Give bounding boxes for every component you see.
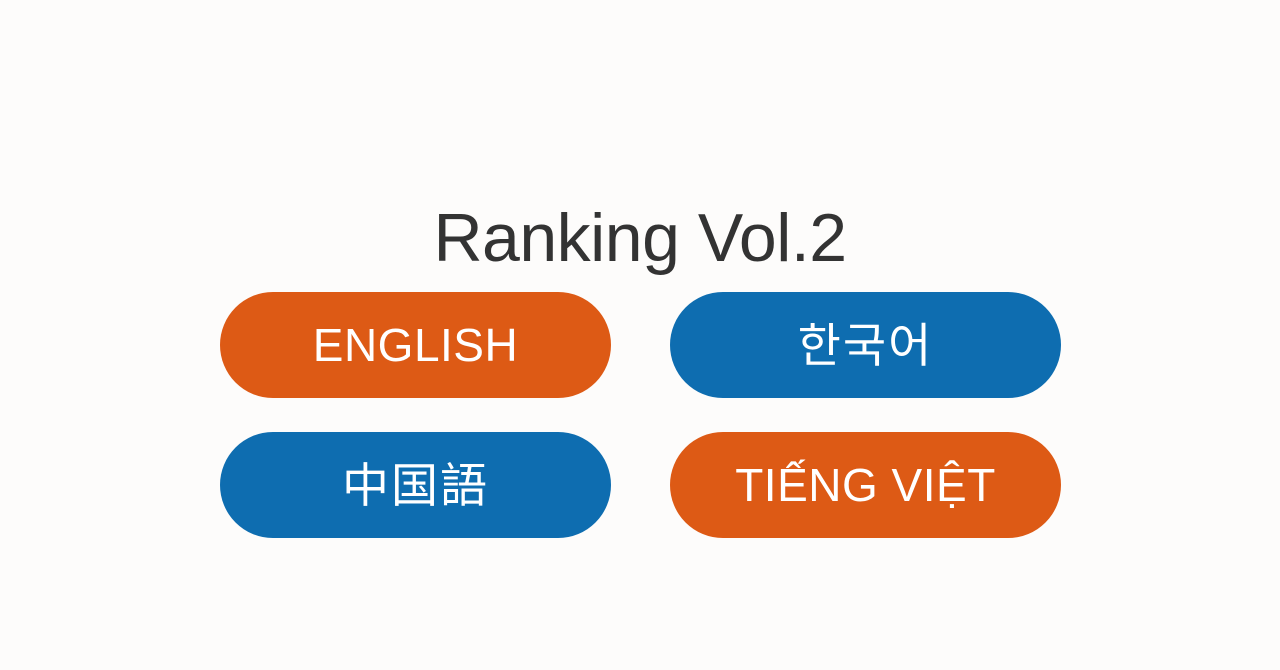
page-title: Ranking Vol.2 <box>0 196 1280 280</box>
language-button-english-label: ENGLISH <box>313 322 518 368</box>
language-button-chinese-label: 中国語 <box>342 462 489 509</box>
language-button-vietnamese-label: TIẾNG VIỆT <box>735 462 996 508</box>
language-select-screen: Ranking Vol.2 ENGLISH 한국어 中国語 TIẾNG VIỆT <box>0 0 1280 670</box>
language-button-korean-label: 한국어 <box>798 322 934 369</box>
language-button-vietnamese[interactable]: TIẾNG VIỆT <box>670 432 1061 538</box>
language-button-grid: ENGLISH 한국어 中国語 TIẾNG VIỆT <box>220 292 1061 538</box>
language-button-english[interactable]: ENGLISH <box>220 292 611 398</box>
language-button-korean[interactable]: 한국어 <box>670 292 1061 398</box>
language-button-chinese[interactable]: 中国語 <box>220 432 611 538</box>
